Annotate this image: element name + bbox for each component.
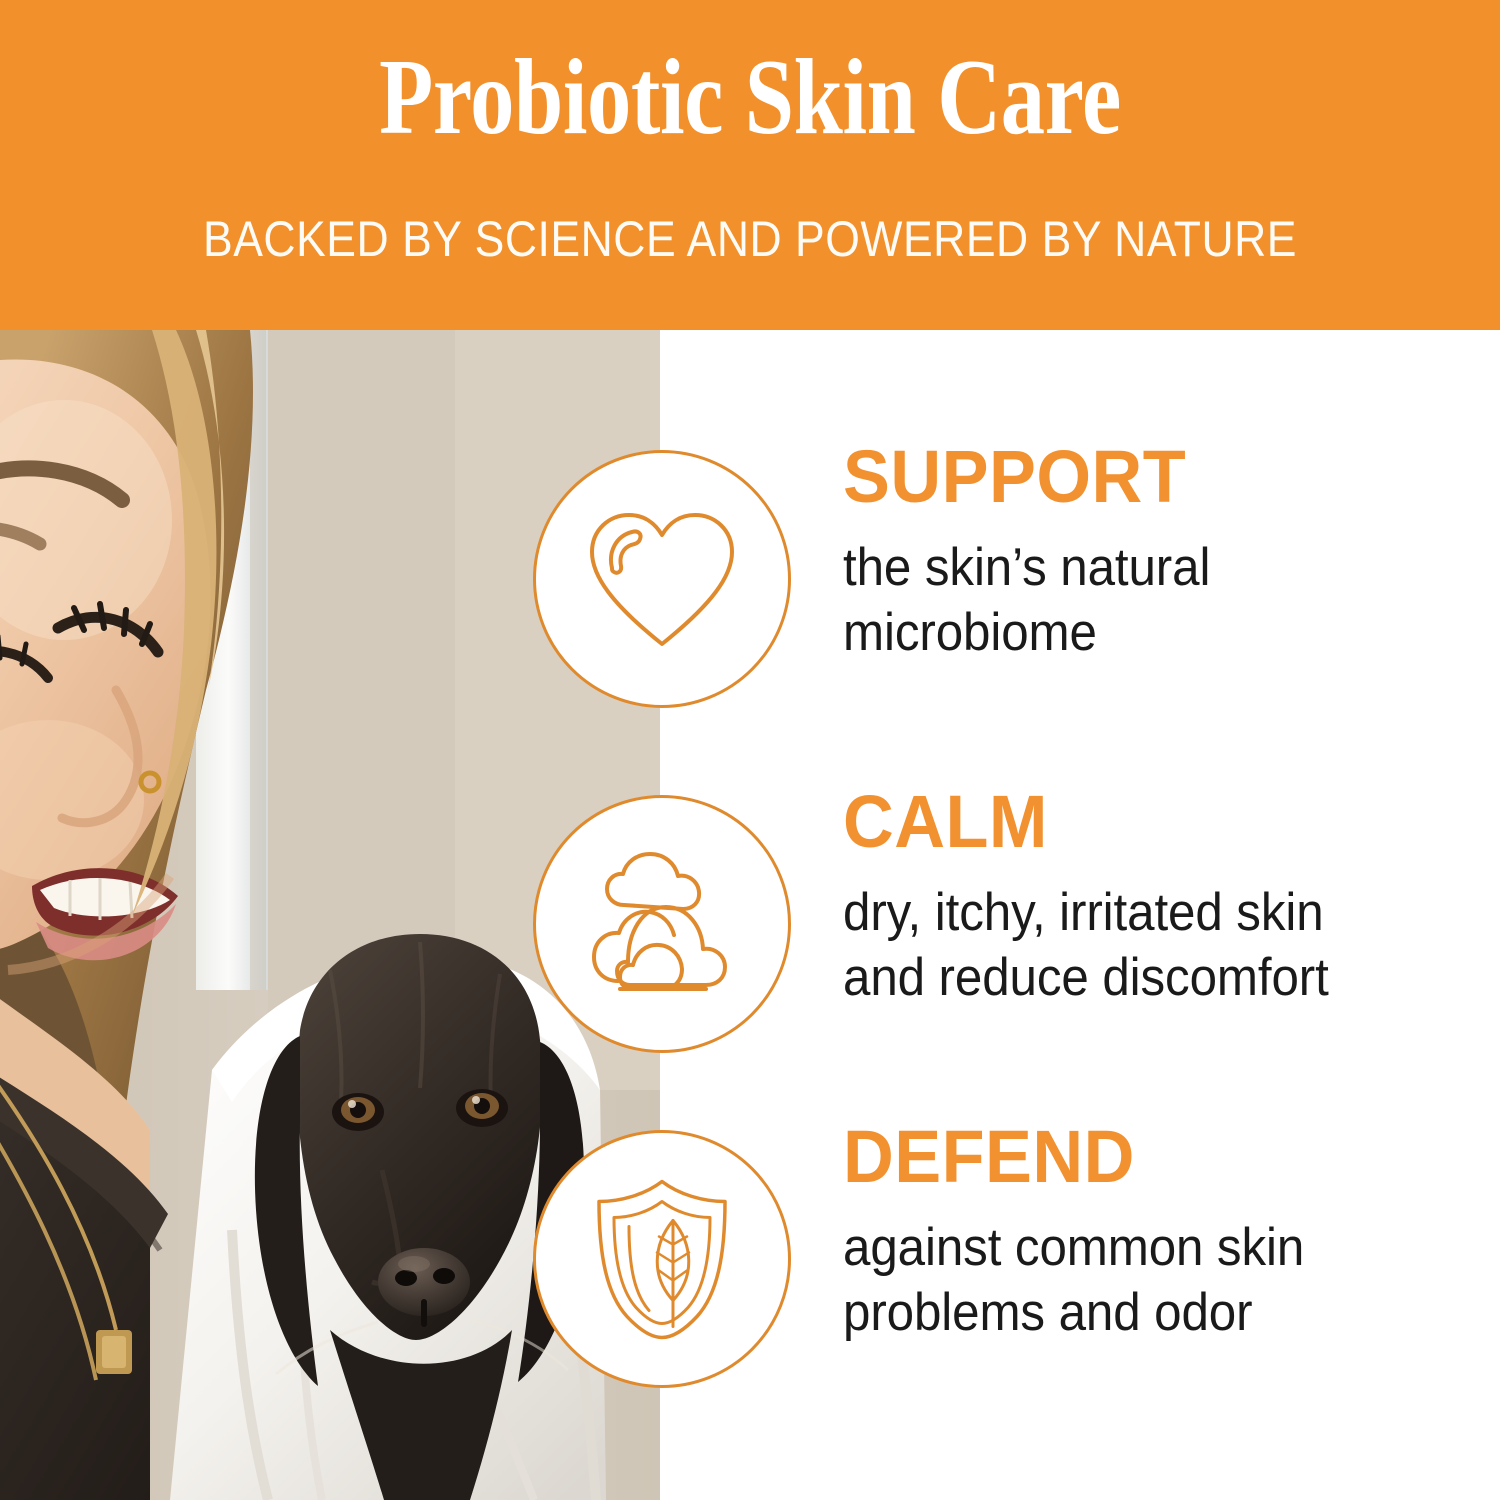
page-title: Probiotic Skin Care <box>135 44 1365 152</box>
clouds-icon-badge <box>533 795 791 1053</box>
feature-support-heading: SUPPORT <box>843 440 1451 514</box>
shield-leaf-icon-badge <box>533 1130 791 1388</box>
page-subtitle: BACKED BY SCIENCE AND POWERED BY NATURE <box>83 214 1418 264</box>
feature-support-description: the skin’s natural microbiome <box>843 536 1438 665</box>
feature-defend: DEFEND against common skin problems and … <box>0 1120 1500 1420</box>
feature-defend-text: DEFEND against common skin problems and … <box>843 1120 1483 1345</box>
desc-line: microbiome <box>843 601 1438 666</box>
desc-line: and reduce discomfort <box>843 946 1438 1011</box>
feature-defend-heading: DEFEND <box>843 1120 1451 1194</box>
feature-calm-text: CALM dry, itchy, irritated skin and redu… <box>843 785 1483 1010</box>
feature-calm: CALM dry, itchy, irritated skin and redu… <box>0 785 1500 1085</box>
feature-calm-heading: CALM <box>843 785 1451 859</box>
infographic-canvas: Probiotic Skin Care BACKED BY SCIENCE AN… <box>0 0 1500 1500</box>
desc-line: problems and odor <box>843 1281 1438 1346</box>
feature-support: SUPPORT the skin’s natural microbiome <box>0 440 1500 740</box>
desc-line: dry, itchy, irritated skin <box>843 881 1438 946</box>
feature-calm-description: dry, itchy, irritated skin and reduce di… <box>843 881 1438 1010</box>
feature-support-text: SUPPORT the skin’s natural microbiome <box>843 440 1483 665</box>
feature-defend-description: against common skin problems and odor <box>843 1216 1438 1345</box>
desc-line: against common skin <box>843 1216 1438 1281</box>
heart-icon-badge <box>533 450 791 708</box>
header-banner: Probiotic Skin Care BACKED BY SCIENCE AN… <box>0 0 1500 330</box>
desc-line: the skin’s natural <box>843 536 1438 601</box>
